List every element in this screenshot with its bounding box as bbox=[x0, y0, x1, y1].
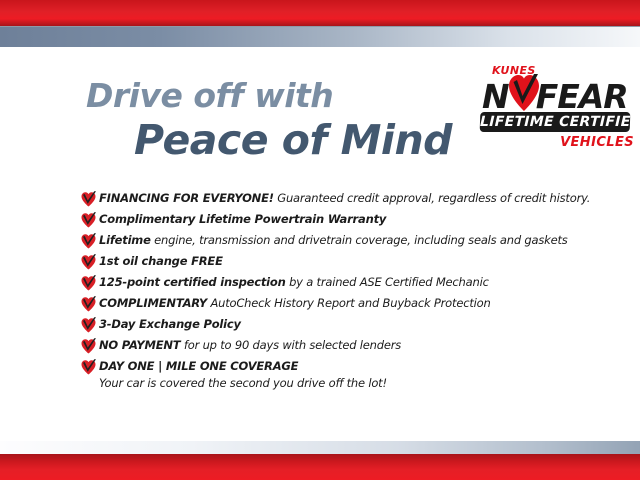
benefit-item: Lifetime engine, transmission and drivet… bbox=[79, 232, 599, 250]
heart-check-icon bbox=[79, 317, 99, 334]
benefit-highlight: DAY ONE | MILE ONE COVERAGE bbox=[99, 359, 298, 373]
heart-check-icon bbox=[79, 212, 99, 229]
logo-wordmark-prefix: N bbox=[482, 77, 509, 116]
benefit-item: DAY ONE | MILE ONE COVERAGEYour car is c… bbox=[79, 358, 599, 392]
benefit-item: Complimentary Lifetime Powertrain Warran… bbox=[79, 211, 599, 229]
heart-check-icon bbox=[79, 275, 99, 292]
heart-check-icon bbox=[79, 191, 99, 208]
heart-check-icon bbox=[507, 73, 541, 113]
benefit-item: NO PAYMENT for up to 90 days with select… bbox=[79, 337, 599, 355]
logo-wordmark: NOFEAR bbox=[482, 77, 628, 116]
heart-check-icon bbox=[79, 233, 99, 250]
headline-block: Drive off with Peace of Mind bbox=[86, 78, 466, 162]
benefit-detail: engine, transmission and drivetrain cove… bbox=[151, 233, 568, 247]
logo-footer-text: VEHICLES bbox=[560, 135, 634, 150]
benefit-text: Lifetime engine, transmission and drivet… bbox=[99, 232, 568, 249]
benefit-highlight: 1st oil change FREE bbox=[99, 254, 223, 268]
heart-check-icon bbox=[79, 296, 99, 313]
benefit-subtext: Your car is covered the second you drive… bbox=[99, 375, 387, 392]
heart-check-icon bbox=[79, 254, 99, 271]
benefit-text: NO PAYMENT for up to 90 days with select… bbox=[99, 337, 401, 354]
bottom-red-band bbox=[0, 454, 640, 480]
benefit-text-wrapper: Lifetime engine, transmission and drivet… bbox=[99, 232, 568, 249]
benefits-list: FINANCING FOR EVERYONE! Guaranteed credi… bbox=[79, 190, 599, 395]
benefit-detail: Guaranteed credit approval, regardless o… bbox=[274, 191, 590, 205]
logo-certified-bar: LIFETIME CERTIFIED bbox=[480, 112, 631, 132]
heart-check-icon bbox=[79, 359, 99, 376]
benefit-item: 125-point certified inspection by a trai… bbox=[79, 274, 599, 292]
benefit-text-wrapper: 3-Day Exchange Policy bbox=[99, 316, 241, 333]
benefit-text: COMPLIMENTARY AutoCheck History Report a… bbox=[99, 295, 491, 312]
benefit-text-wrapper: FINANCING FOR EVERYONE! Guaranteed credi… bbox=[99, 190, 590, 207]
benefit-highlight: 3-Day Exchange Policy bbox=[99, 317, 241, 331]
benefit-highlight: FINANCING FOR EVERYONE! bbox=[99, 191, 274, 205]
benefit-text-wrapper: COMPLIMENTARY AutoCheck History Report a… bbox=[99, 295, 491, 312]
benefit-text: 1st oil change FREE bbox=[99, 253, 223, 270]
bottom-light-gradient-band bbox=[0, 441, 640, 455]
benefit-highlight: Lifetime bbox=[99, 233, 151, 247]
benefit-highlight: NO PAYMENT bbox=[99, 338, 180, 352]
benefit-item: 3-Day Exchange Policy bbox=[79, 316, 599, 334]
top-white-gap bbox=[0, 47, 640, 55]
dealer-promo-banner: Drive off with Peace of Mind KUNES NOFEA… bbox=[0, 0, 640, 480]
benefit-text-wrapper: DAY ONE | MILE ONE COVERAGEYour car is c… bbox=[99, 358, 387, 392]
kunes-no-fear-logo: KUNES NOFEAR LIFETIME CERTIFIED VEHICLES bbox=[478, 64, 636, 160]
heart-check-icon bbox=[79, 338, 99, 355]
benefit-item: COMPLIMENTARY AutoCheck History Report a… bbox=[79, 295, 599, 313]
logo-wordmark-suffix: FEAR bbox=[536, 77, 628, 116]
benefit-text: DAY ONE | MILE ONE COVERAGE bbox=[99, 358, 387, 375]
benefit-text: 125-point certified inspection by a trai… bbox=[99, 274, 489, 291]
logo-certified-text: LIFETIME CERTIFIED bbox=[480, 112, 631, 132]
benefit-item: 1st oil change FREE bbox=[79, 253, 599, 271]
benefit-highlight: 125-point certified inspection bbox=[99, 275, 286, 289]
benefit-detail: for up to 90 days with selected lenders bbox=[180, 338, 401, 352]
benefit-detail: by a trained ASE Certified Mechanic bbox=[286, 275, 489, 289]
benefit-text-wrapper: 125-point certified inspection by a trai… bbox=[99, 274, 489, 291]
benefit-text: FINANCING FOR EVERYONE! Guaranteed credi… bbox=[99, 190, 590, 207]
benefit-text-wrapper: 1st oil change FREE bbox=[99, 253, 223, 270]
benefit-highlight: COMPLIMENTARY bbox=[99, 296, 207, 310]
benefit-text: 3-Day Exchange Policy bbox=[99, 316, 241, 333]
top-blue-gradient-band bbox=[0, 26, 640, 48]
top-red-band bbox=[0, 0, 640, 26]
benefit-text-wrapper: Complimentary Lifetime Powertrain Warran… bbox=[99, 211, 386, 228]
headline-line-2: Peace of Mind bbox=[134, 118, 466, 162]
benefit-item: FINANCING FOR EVERYONE! Guaranteed credi… bbox=[79, 190, 599, 208]
benefit-text: Complimentary Lifetime Powertrain Warran… bbox=[99, 211, 386, 228]
benefit-text-wrapper: NO PAYMENT for up to 90 days with select… bbox=[99, 337, 401, 354]
benefit-detail: AutoCheck History Report and Buyback Pro… bbox=[207, 296, 491, 310]
benefit-highlight: Complimentary Lifetime Powertrain Warran… bbox=[99, 212, 386, 226]
headline-line-1: Drive off with bbox=[86, 78, 466, 114]
